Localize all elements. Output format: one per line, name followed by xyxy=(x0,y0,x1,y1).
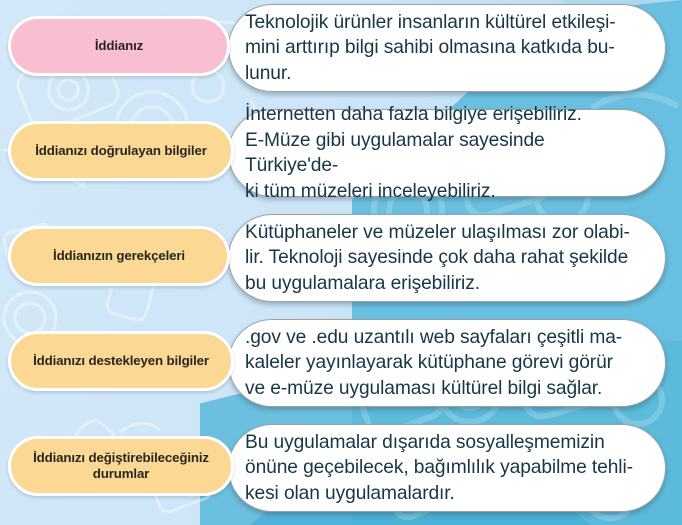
argument-label-pill-supporting-evidence[interactable]: İddianızı doğrulayan bilgiler xyxy=(8,121,234,181)
argument-label-pill-reasons[interactable]: İddianızın gerekçeleri xyxy=(8,226,230,286)
argument-card: Kütüphaneler ve müzeler ulaşılması zor o… xyxy=(228,214,666,302)
argument-card: .gov ve .edu uzantılı web sayfaları çeşi… xyxy=(228,319,666,407)
worksheet-page: Teknolojik ürünler insanların kültürel e… xyxy=(0,0,682,525)
argument-label-pill-claim[interactable]: İddianız xyxy=(8,16,230,76)
argument-label-text: İddianızın gerekçeleri xyxy=(53,248,185,264)
argument-label-pill-rebuttal[interactable]: İddianızı değiştirebileceğiniz durumlar xyxy=(8,436,234,496)
argument-label-text: İddianızı değiştirebileceğiniz durumlar xyxy=(25,450,217,482)
argument-row: İnternetten daha fazla bilgiye erişebili… xyxy=(0,105,682,210)
argument-card-text: Bu uygulamalar dışarıda sosyalleşmemizin… xyxy=(245,430,633,507)
argument-label-text: İddianızı destekleyen bilgiler xyxy=(33,353,209,369)
argument-card-text: İnternetten daha fazla bilgiye erişebili… xyxy=(245,102,639,204)
argument-label-pill-backing[interactable]: İddianızı destekleyen bilgiler xyxy=(8,331,234,391)
argument-card-text: Kütüphaneler ve müzeler ulaşılması zor o… xyxy=(245,220,630,297)
argument-card: İnternetten daha fazla bilgiye erişebili… xyxy=(228,109,666,197)
argument-row: .gov ve .edu uzantılı web sayfaları çeşi… xyxy=(0,315,682,420)
argument-row: Bu uygulamalar dışarıda sosyalleşmemizin… xyxy=(0,420,682,525)
argument-row: Teknolojik ürünler insanların kültürel e… xyxy=(0,0,682,105)
argument-label-text: İddianız xyxy=(95,38,143,54)
argument-row: Kütüphaneler ve müzeler ulaşılması zor o… xyxy=(0,210,682,315)
argument-card: Bu uygulamalar dışarıda sosyalleşmemizin… xyxy=(228,424,666,512)
argument-card-text: .gov ve .edu uzantılı web sayfaları çeşi… xyxy=(245,325,622,402)
argument-label-text: İddianızı doğrulayan bilgiler xyxy=(35,143,206,159)
argument-rows: Teknolojik ürünler insanların kültürel e… xyxy=(0,0,682,525)
argument-card: Teknolojik ürünler insanların kültürel e… xyxy=(228,4,666,92)
argument-card-text: Teknolojik ürünler insanların kültürel e… xyxy=(245,10,616,87)
